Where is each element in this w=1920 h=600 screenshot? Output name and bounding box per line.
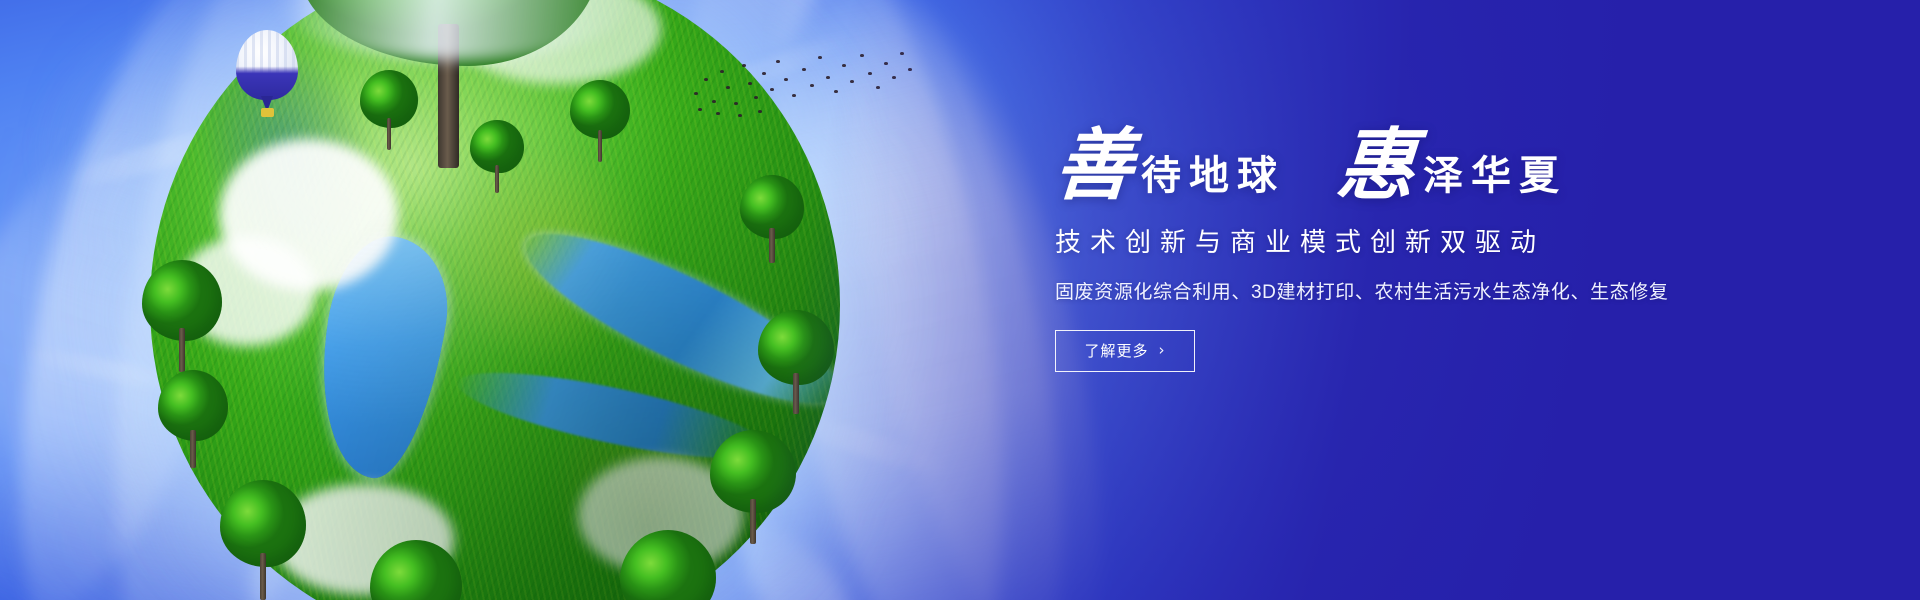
chevron-right-icon: › bbox=[1159, 343, 1166, 358]
headline-lead-char-1: 善 bbox=[1052, 130, 1135, 202]
learn-more-label: 了解更多 bbox=[1084, 340, 1148, 361]
hero-content: 善 待地球 惠 泽华夏 技术创新与商业模式创新双驱动 固废资源化综合利用、3D建… bbox=[1055, 130, 1815, 372]
headline-rest-chars-1: 待地球 bbox=[1133, 156, 1285, 202]
hero-headline: 善 待地球 惠 泽华夏 bbox=[1055, 130, 1815, 202]
hero-banner: 善 待地球 惠 泽华夏 技术创新与商业模式创新双驱动 固废资源化综合利用、3D建… bbox=[0, 0, 1920, 600]
learn-more-button[interactable]: 了解更多 › bbox=[1055, 330, 1195, 372]
headline-lead-char-2: 惠 bbox=[1335, 130, 1418, 202]
hero-description: 固废资源化综合利用、3D建材打印、农村生活污水生态净化、生态修复 bbox=[1055, 277, 1815, 304]
headline-rest-chars-2: 泽华夏 bbox=[1415, 156, 1567, 202]
hero-subtitle: 技术创新与商业模式创新双驱动 bbox=[1055, 222, 1815, 259]
